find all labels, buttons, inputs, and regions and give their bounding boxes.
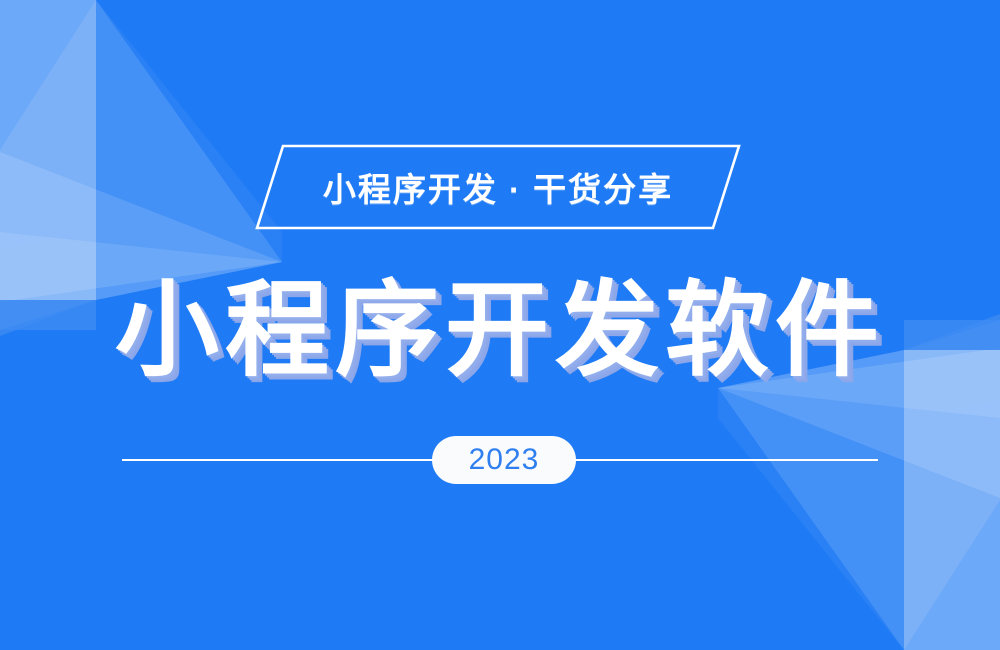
decor-right-flag (718, 350, 904, 650)
divider-right-line (574, 459, 878, 461)
subtitle-text: 小程序开发 · 干货分享 (255, 144, 741, 230)
page-title: 小程序开发软件 (0, 272, 1000, 390)
subtitle-banner: 小程序开发 · 干货分享 (255, 144, 741, 230)
decor-right-band (904, 350, 1000, 650)
divider-left-line (122, 459, 434, 461)
year-label: 2023 (469, 443, 540, 477)
year-divider-row: 2023 (0, 436, 1000, 484)
year-badge: 2023 (432, 436, 576, 484)
decor-right-flag-bottom (718, 388, 904, 650)
decor-left-triangle-upper (0, 152, 282, 262)
decor-left-band (0, 0, 96, 300)
promo-banner: 小程序开发 · 干货分享 小程序开发软件 2023 (0, 0, 1000, 650)
